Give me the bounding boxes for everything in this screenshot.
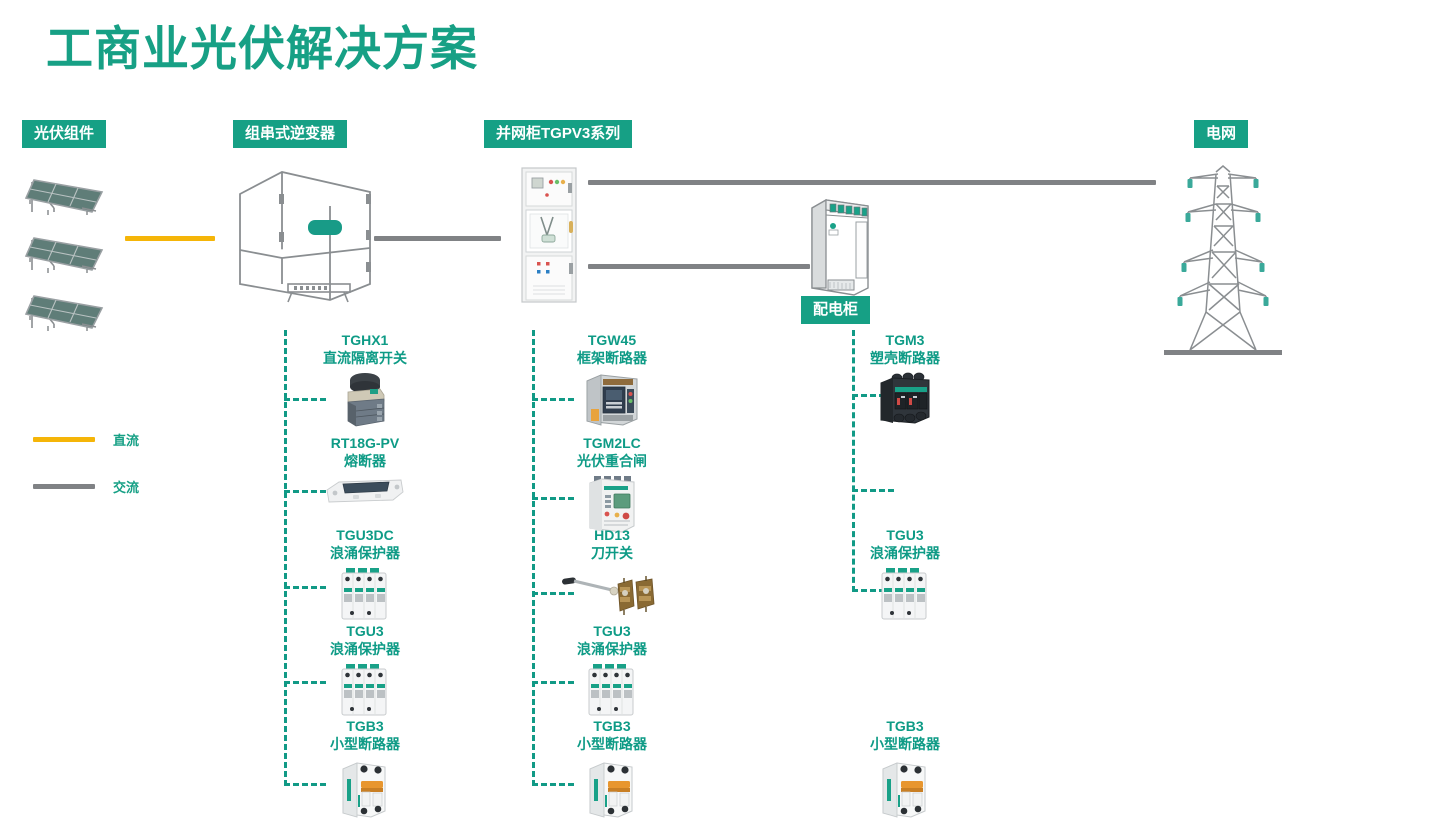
component-card[interactable]: HD13 刀开关 [527, 527, 697, 618]
badge-distribution-cabinet: 配电柜 [801, 296, 870, 324]
transmission-tower-icon [1160, 162, 1286, 358]
component-card[interactable]: TGW45 框架断路器 [527, 332, 697, 427]
component-card[interactable]: RT18G-PV 熔断器 [280, 435, 450, 508]
component-model: TGB3 [280, 718, 450, 736]
grid-cabinet-icon [521, 167, 577, 303]
component-model: TGU3 [527, 623, 697, 641]
solar-panel-icon [24, 226, 120, 276]
component-card[interactable]: TGU3DC 浪涌保护器 [280, 527, 450, 624]
solution-diagram-canvas: 工商业光伏解决方案 光伏组件 组串式逆变器 并网柜TGPV3系列 电网 配电柜 … [0, 0, 1436, 829]
component-name: 光伏重合闸 [527, 453, 697, 471]
ac-flow-line-inverter-to-cabinet [374, 236, 501, 241]
component-name: 浪涌保护器 [280, 641, 450, 659]
component-name: 刀开关 [527, 545, 697, 563]
component-card[interactable]: TGB3 小型断路器 [820, 718, 990, 819]
component-name: 直流隔离开关 [280, 350, 450, 368]
ac-flow-line-cabinet-to-grid [588, 180, 1156, 185]
solar-panel-icon [24, 168, 120, 218]
component-card[interactable]: TGU3 浪涌保护器 [280, 623, 450, 720]
component-card[interactable]: TGB3 小型断路器 [280, 718, 450, 819]
ac-flow-line-cabinet-to-distribution [588, 264, 810, 269]
dc-flow-line-pv-to-inverter [125, 236, 215, 241]
legend-label-dc: 直流 [113, 430, 139, 449]
component-card[interactable]: TGU3 浪涌保护器 [527, 623, 697, 720]
distribution-cabinet-icon [806, 196, 872, 296]
page-title: 工商业光伏解决方案 [46, 22, 478, 76]
component-name: 小型断路器 [820, 736, 990, 754]
component-model: TGW45 [527, 332, 697, 350]
knife-switch-icon [527, 566, 697, 618]
surge-protector-icon [280, 662, 450, 720]
component-model: HD13 [527, 527, 697, 545]
component-card[interactable]: TGU3 浪涌保护器 [820, 527, 990, 624]
component-model: TGM2LC [527, 435, 697, 453]
component-model: TGU3 [820, 527, 990, 545]
string-inverter-icon [232, 166, 378, 306]
component-model: TGU3DC [280, 527, 450, 545]
component-model: TGU3 [280, 623, 450, 641]
component-name: 框架断路器 [527, 350, 697, 368]
badge-distribution-cabinet-label: 配电柜 [801, 296, 870, 324]
dc-line-swatch [33, 437, 95, 442]
surge-protector-icon [280, 566, 450, 624]
miniature-circuit-breaker-icon [280, 757, 450, 819]
surge-protector-icon [527, 662, 697, 720]
component-name: 小型断路器 [280, 736, 450, 754]
component-name: 浪涌保护器 [280, 545, 450, 563]
component-card[interactable]: TGB3 小型断路器 [527, 718, 697, 819]
dc-isolator-switch-icon [280, 371, 450, 427]
badge-power-grid-label: 电网 [1194, 120, 1248, 148]
fuse-holder-icon [280, 474, 450, 508]
component-model: TGM3 [820, 332, 990, 350]
miniature-circuit-breaker-icon [820, 757, 990, 819]
badge-string-inverter-label: 组串式逆变器 [233, 120, 347, 148]
component-name: 浪涌保护器 [527, 641, 697, 659]
air-circuit-breaker-icon [527, 371, 697, 427]
component-card[interactable]: TGM3 塑壳断路器 [820, 332, 990, 427]
badge-pv-modules-label: 光伏组件 [22, 120, 106, 148]
branch-connector [852, 489, 894, 492]
badge-grid-cabinet: 并网柜TGPV3系列 [484, 120, 632, 148]
solar-panel-icon [24, 284, 120, 334]
component-model: RT18G-PV [280, 435, 450, 453]
component-name: 小型断路器 [527, 736, 697, 754]
component-model: TGB3 [820, 718, 990, 736]
surge-protector-icon [820, 566, 990, 624]
legend-item-ac: 交流 [33, 477, 139, 496]
component-model: TGHX1 [280, 332, 450, 350]
miniature-circuit-breaker-icon [527, 757, 697, 819]
component-model: TGB3 [527, 718, 697, 736]
component-name: 熔断器 [280, 453, 450, 471]
component-card[interactable]: TGHX1 直流隔离开关 [280, 332, 450, 427]
component-name: 塑壳断路器 [820, 350, 990, 368]
component-name: 浪涌保护器 [820, 545, 990, 563]
legend-label-ac: 交流 [113, 477, 139, 496]
molded-case-breaker-icon [820, 371, 990, 427]
badge-pv-modules: 光伏组件 [22, 120, 106, 148]
ac-line-swatch [33, 484, 95, 489]
badge-power-grid: 电网 [1194, 120, 1248, 148]
badge-grid-cabinet-label: 并网柜TGPV3系列 [484, 120, 632, 148]
legend-item-dc: 直流 [33, 430, 139, 449]
badge-string-inverter: 组串式逆变器 [233, 120, 347, 148]
pv-recloser-icon [527, 474, 697, 534]
component-card[interactable]: TGM2LC 光伏重合闸 [527, 435, 697, 534]
